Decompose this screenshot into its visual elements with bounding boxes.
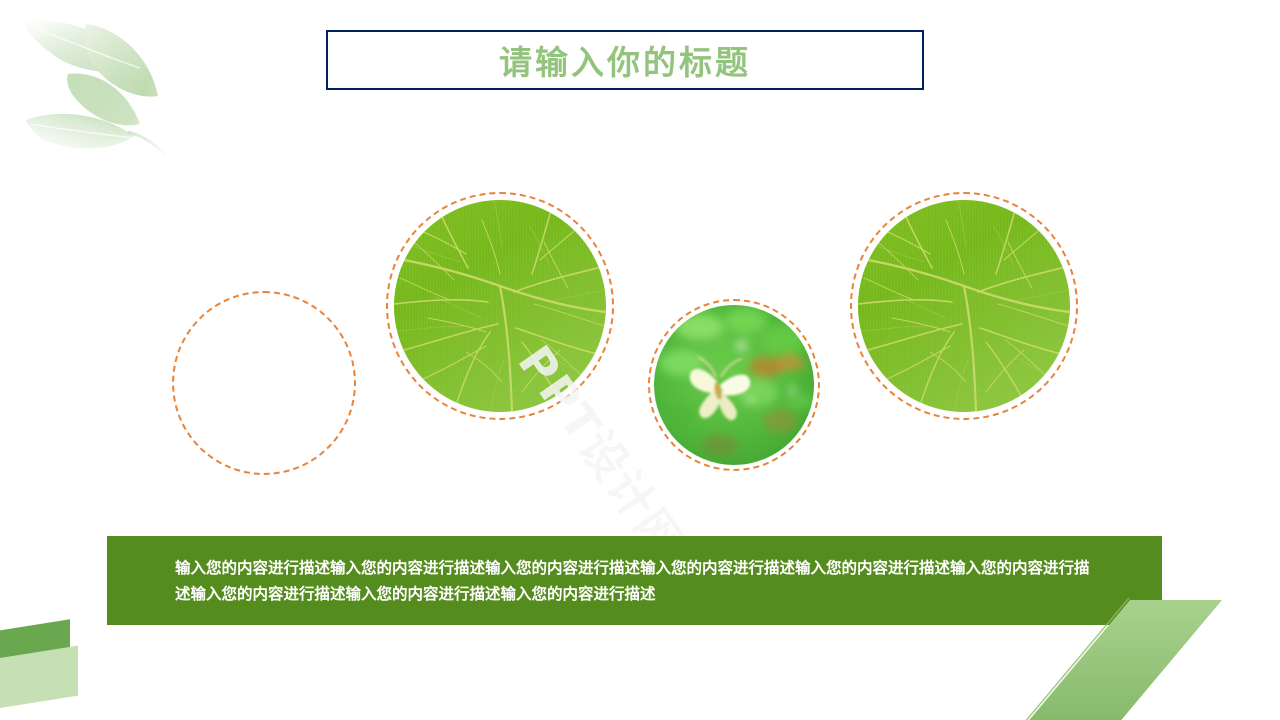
title-box[interactable]: 请输入你的标题	[326, 30, 924, 90]
faded-leaves-photo	[0, 0, 180, 180]
circle-4-leaf-vein-image[interactable]	[858, 200, 1070, 412]
content-banner-text: 输入您的内容进行描述输入您的内容进行描述输入您的内容进行描述输入您的内容进行描述…	[175, 555, 1097, 607]
circle-1-dashed-ring[interactable]	[172, 291, 356, 475]
circle-2-leaf-vein-image[interactable]	[394, 200, 606, 412]
slide-canvas: 请输入你的标题	[0, 0, 1280, 720]
circle-3-butterfly-image[interactable]	[654, 305, 814, 465]
page-title: 请输入你的标题	[499, 36, 751, 84]
content-banner[interactable]: 输入您的内容进行描述输入您的内容进行描述输入您的内容进行描述输入您的内容进行描述…	[107, 536, 1162, 625]
bottom-left-light-shape	[0, 646, 78, 715]
